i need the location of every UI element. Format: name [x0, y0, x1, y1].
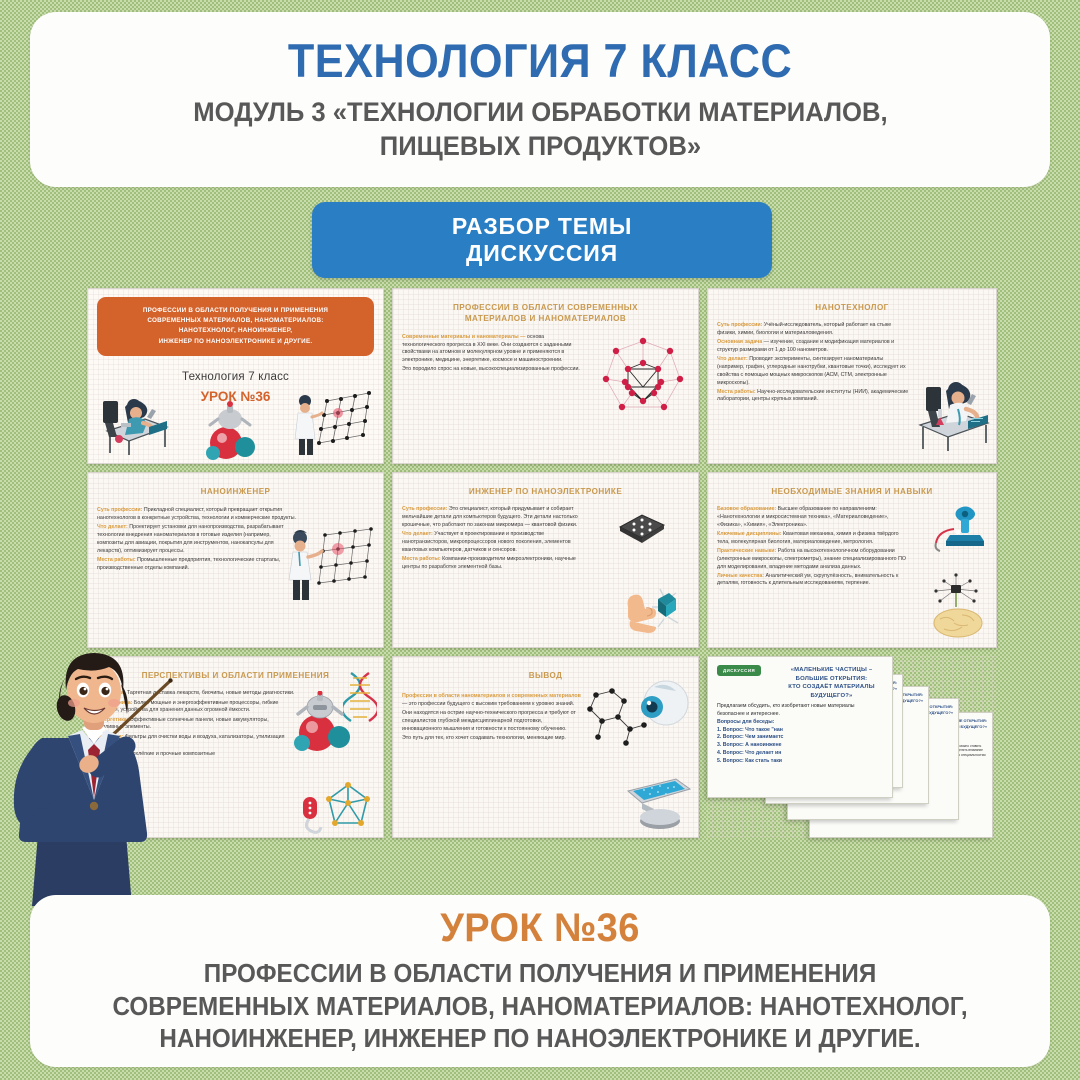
- header-banner: ТЕХНОЛОГИЯ 7 КЛАСС МОДУЛЬ 3 «ТЕХНОЛОГИИ …: [30, 12, 1050, 187]
- cover-heading-line4: ИНЖЕНЕР ПО НАНОЭЛЕКТРОНИКЕ И ДРУГИЕ.: [105, 337, 366, 347]
- footer-banner: УРОК №36 ПРОФЕССИИ В ОБЛАСТИ ПОЛУЧЕНИЯ И…: [30, 895, 1050, 1067]
- topic-pill-line1: РАЗБОР ТЕМЫ: [452, 213, 632, 240]
- slide-grid: ПРОФЕССИИ В ОБЛАСТИ ПОЛУЧЕНИЯ И ПРИМЕНЕН…: [87, 288, 999, 870]
- sk-l1-label: Базовое образование:: [717, 506, 776, 512]
- cl-p1: — это профессии будущего с высоким требо…: [402, 701, 574, 707]
- topic-pill-line2: ДИСКУССИЯ: [466, 240, 618, 267]
- footer-description-line2: СОВРЕМЕННЫХ МАТЕРИАЛОВ, НАНОМАТЕРИАЛОВ: …: [112, 991, 967, 1024]
- slide-nanotechnologist[interactable]: НАНОТЕХНОЛОГ Суть профессии: Учёный-иссл…: [707, 288, 997, 464]
- page-title: ТЕХНОЛОГИЯ 7 КЛАСС: [288, 36, 792, 85]
- nt-l4-label: Места работы:: [717, 389, 756, 395]
- slide-nanoelectronics[interactable]: ИНЖЕНЕР ПО НАНОЭЛЕКТРОНИКЕ Суть професси…: [392, 472, 699, 648]
- slide-intro-title-line2: МАТЕРИАЛОВ И НАНОМАТЕРИАЛОВ: [402, 313, 689, 324]
- slide-skills-title: НЕОБХОДИМЫЕ ЗНАНИЯ И НАВЫКИ: [717, 486, 987, 497]
- sk-l2-label: Ключевые дисциплины:: [717, 531, 782, 537]
- discussion-question-5: 5. Вопрос: Как стать таки: [717, 758, 883, 766]
- nt-l3-label: Что делает:: [717, 356, 748, 362]
- slide-conclusion[interactable]: ВЫВОД Профессии в области наноматериалов…: [392, 656, 699, 838]
- header-subtitle-line2: ПИЩЕВЫХ ПРОДУКТОВ»: [193, 129, 887, 163]
- discussion-badge: ДИСКУССИЯ: [717, 665, 761, 676]
- slide-skills-body: Базовое образование: Высшее образование …: [717, 506, 911, 588]
- cl-lead: Профессии в области наноматериалов и сов…: [402, 693, 581, 699]
- nt-l1-label: Суть профессии:: [717, 322, 762, 328]
- slide-nanoengineer-title: НАНОИНЖЕНЕР: [97, 486, 374, 497]
- slide-cover[interactable]: ПРОФЕССИИ В ОБЛАСТИ ПОЛУЧЕНИЯ И ПРИМЕНЕН…: [87, 288, 384, 464]
- sk-l4-label: Личные качества:: [717, 573, 764, 579]
- slide-nanoengineer-body: Суть профессии: Прикладной специалист, к…: [97, 507, 296, 572]
- slide-skills[interactable]: НЕОБХОДИМЫЕ ЗНАНИЯ И НАВЫКИ Базовое обра…: [707, 472, 997, 648]
- slide-intro-title: ПРОФЕССИИ В ОБЛАСТИ СОВРЕМЕННЫХ МАТЕРИАЛ…: [402, 302, 689, 325]
- header-subtitle: МОДУЛЬ 3 «ТЕХНОЛОГИИ ОБРАБОТКИ МАТЕРИАЛО…: [193, 95, 887, 163]
- footer-description-line3: НАНОИНЖЕНЕР, ИНЖЕНЕР ПО НАНОЭЛЕКТРОНИКЕ …: [112, 1023, 967, 1056]
- slide-nanoelectronics-title: ИНЖЕНЕР ПО НАНОЭЛЕКТРОНИКЕ: [402, 486, 689, 497]
- footer-description-line1: ПРОФЕССИИ В ОБЛАСТИ ПОЛУЧЕНИЯ И ПРИМЕНЕН…: [112, 958, 967, 991]
- slide-nanoengineer[interactable]: НАНОИНЖЕНЕР Суть профессии: Прикладной с…: [87, 472, 384, 648]
- slide-conclusion-title: ВЫВОД: [402, 670, 689, 681]
- slide-conclusion-body: Профессии в области наноматериалов и сов…: [402, 693, 583, 742]
- intro-p2: Это породило спрос на новые, высокоспеци…: [402, 366, 583, 374]
- discussion-question-3: 3. Вопрос: А наноинжене: [717, 742, 883, 750]
- nt-l2-label: Основная задача: [717, 339, 762, 345]
- slide-nanotechnologist-body: Суть профессии: Учёный-исследователь, ко…: [717, 322, 911, 404]
- nel-l3-label: Места работы:: [402, 556, 441, 562]
- header-subtitle-line1: МОДУЛЬ 3 «ТЕХНОЛОГИИ ОБРАБОТКИ МАТЕРИАЛО…: [193, 95, 887, 129]
- discussion-questions-title: Вопросы для беседы:: [717, 719, 883, 727]
- discussion-base-card[interactable]: ДИСКУССИЯ «МАЛЕНЬКИЕ ЧАСТИЦЫ – БОЛЬШИЕ О…: [707, 656, 893, 798]
- cover-heading-line2: СОВРЕМЕННЫХ МАТЕРИАЛОВ, НАНОМАТЕРИАЛОВ:: [105, 316, 366, 326]
- footer-description: ПРОФЕССИИ В ОБЛАСТИ ПОЛУЧЕНИЯ И ПРИМЕНЕН…: [112, 958, 967, 1057]
- teacher-illustration: [2, 648, 180, 906]
- slide-nanoelectronics-body: Суть профессии: Это специалист, который …: [402, 506, 583, 571]
- discussion-heading-line1: «МАЛЕНЬКИЕ ЧАСТИЦЫ – БОЛЬШИЕ ОТКРЫТИЯ:: [778, 666, 885, 683]
- cover-heading: ПРОФЕССИИ В ОБЛАСТИ ПОЛУЧЕНИЯ И ПРИМЕНЕН…: [97, 297, 374, 356]
- topic-pill-badge[interactable]: РАЗБОР ТЕМЫ ДИСКУССИЯ: [312, 202, 772, 278]
- slide-discussion[interactable]: ОТВЕТ №5 «МАЛЕНЬКИЕ ЧАСТИЦЫ – БОЛЬШИЕ ОТ…: [707, 656, 997, 838]
- slide-intro-title-line1: ПРОФЕССИИ В ОБЛАСТИ СОВРЕМЕННЫХ: [402, 302, 689, 313]
- discussion-heading-line2: КТО СОЗДАЁТ МАТЕРИАЛЫ БУДУЩЕГО?»: [778, 683, 885, 700]
- intro-lead: Современные материалы и наноматериалы —: [402, 334, 525, 340]
- cover-course: Технология 7 класс: [88, 369, 383, 385]
- slide-nanotechnologist-title: НАНОТЕХНОЛОГ: [717, 302, 987, 313]
- discussion-question-1: 1. Вопрос: Что такое "нан: [717, 727, 883, 735]
- cl-p3: Это путь для тех, кто хочет создавать те…: [402, 735, 583, 743]
- slide-intro-body: Современные материалы и наноматериалы — …: [402, 334, 583, 374]
- cover-lesson: УРОК №36: [88, 387, 383, 406]
- discussion-question-4: 4. Вопрос: Что делает ин: [717, 750, 883, 758]
- footer-lesson-number: УРОК №36: [440, 906, 639, 951]
- cover-heading-line3: НАНОТЕХНОЛОГ, НАНОИНЖЕНЕР,: [105, 326, 366, 336]
- cover-subtitle-block: Технология 7 класс УРОК №36: [88, 369, 383, 406]
- nel-l2-label: Что делает:: [402, 531, 433, 537]
- nel-l1-label: Суть профессии:: [402, 506, 447, 512]
- cl-p2: Они находятся на острие научно-техническ…: [402, 710, 583, 733]
- ne-l2-label: Что делает:: [97, 524, 128, 530]
- slide-intro[interactable]: ПРОФЕССИИ В ОБЛАСТИ СОВРЕМЕННЫХ МАТЕРИАЛ…: [392, 288, 699, 464]
- discussion-body: Предлагаем обсудить, кто изобретают новы…: [717, 703, 883, 765]
- discussion-intro: Предлагаем обсудить, кто изобретают новы…: [717, 703, 883, 719]
- discussion-heading: «МАЛЕНЬКИЕ ЧАСТИЦЫ – БОЛЬШИЕ ОТКРЫТИЯ: К…: [778, 666, 885, 700]
- sk-l3-label: Практические навыки:: [717, 548, 776, 554]
- ne-l1-label: Суть профессии:: [97, 507, 142, 513]
- cover-heading-line1: ПРОФЕССИИ В ОБЛАСТИ ПОЛУЧЕНИЯ И ПРИМЕНЕН…: [105, 306, 366, 316]
- ne-l3-label: Места работы:: [97, 557, 136, 563]
- discussion-question-2: 2. Вопрос: Чем занимаетс: [717, 734, 883, 742]
